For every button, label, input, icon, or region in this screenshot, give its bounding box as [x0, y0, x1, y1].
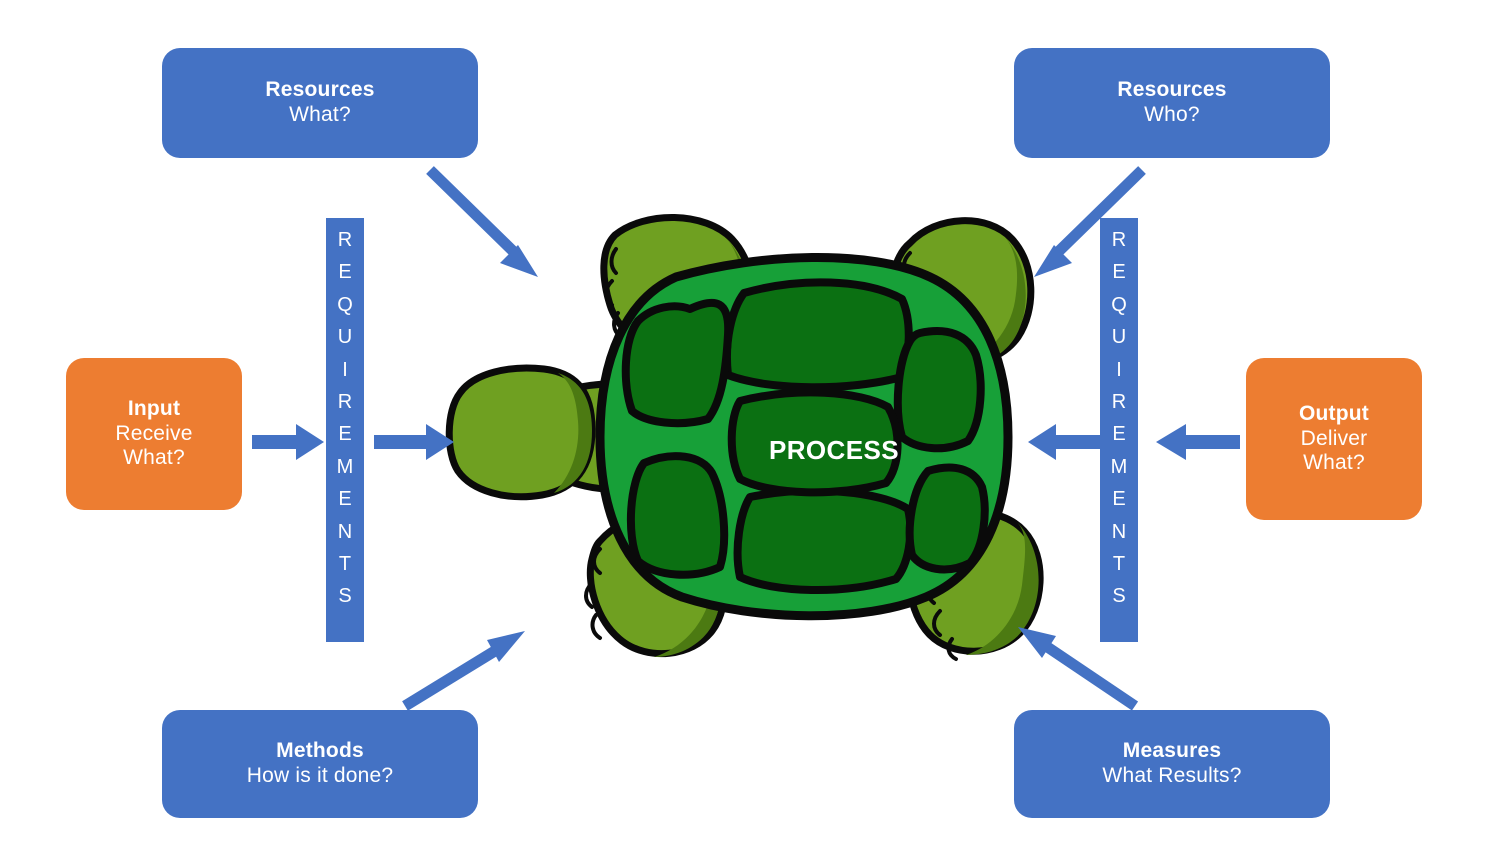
req-letter: U — [1112, 321, 1126, 353]
box-title: Resources — [1117, 78, 1226, 103]
shell-plate-top-right — [898, 331, 981, 448]
shell-plate-center-process — [732, 392, 898, 492]
req-letter: I — [342, 354, 348, 386]
req-letter: E — [338, 483, 351, 515]
req-letter: R — [338, 386, 352, 418]
box-title: Output — [1299, 402, 1369, 427]
box-resources-who[interactable]: Resources Who? — [1014, 48, 1330, 158]
box-subtitle: How is it done? — [247, 764, 394, 789]
box-subtitle-2: What? — [1303, 451, 1365, 476]
requirements-bar-left: R E Q U I R E M E N T S — [326, 218, 364, 642]
req-letter: T — [1113, 548, 1125, 580]
box-subtitle: Who? — [1144, 103, 1200, 128]
box-output[interactable]: Output Deliver What? — [1246, 358, 1422, 520]
req-letter: E — [1112, 483, 1125, 515]
box-measures[interactable]: Measures What Results? — [1014, 710, 1330, 818]
req-letter: Q — [1111, 289, 1127, 321]
req-letter: E — [1112, 418, 1125, 450]
req-letter: E — [338, 418, 351, 450]
box-methods[interactable]: Methods How is it done? — [162, 710, 478, 818]
req-letter: R — [1112, 386, 1126, 418]
box-title: Measures — [1123, 739, 1222, 764]
req-letter: T — [339, 548, 351, 580]
arrow-output-to-requirements — [1156, 424, 1240, 460]
shell-plate-top-center — [727, 282, 909, 387]
shell-plate-bottom-right — [910, 468, 985, 570]
req-letter: E — [1112, 256, 1125, 288]
req-letter: I — [1116, 354, 1122, 386]
box-subtitle: Deliver — [1301, 427, 1368, 452]
req-letter: R — [338, 224, 352, 256]
box-subtitle: What Results? — [1102, 764, 1241, 789]
box-input[interactable]: Input Receive What? — [66, 358, 242, 510]
req-letter: U — [338, 321, 352, 353]
req-letter: Q — [337, 289, 353, 321]
req-letter: M — [337, 451, 354, 483]
box-title: Methods — [276, 739, 364, 764]
requirements-bar-right: R E Q U I R E M E N T S — [1100, 218, 1138, 642]
box-title: Resources — [265, 78, 374, 103]
box-subtitle: Receive — [115, 422, 192, 447]
req-letter: E — [338, 256, 351, 288]
arrow-input-to-requirements — [252, 424, 326, 460]
shell-plate-top-left — [626, 303, 728, 423]
req-letter: S — [1112, 580, 1125, 612]
turtle-illustration — [440, 205, 1060, 665]
req-letter: S — [338, 580, 351, 612]
box-title: Input — [128, 397, 180, 422]
shell-plate-bottom-center — [738, 491, 911, 590]
box-subtitle: What? — [289, 103, 351, 128]
req-letter: M — [1111, 451, 1128, 483]
req-letter: N — [338, 516, 352, 548]
req-letter: R — [1112, 224, 1126, 256]
shell-plate-bottom-left — [631, 456, 724, 575]
box-subtitle-2: What? — [123, 446, 185, 471]
turtle-diagram-canvas: PROCESS — [0, 0, 1500, 844]
req-letter: N — [1112, 516, 1126, 548]
box-resources-what[interactable]: Resources What? — [162, 48, 478, 158]
